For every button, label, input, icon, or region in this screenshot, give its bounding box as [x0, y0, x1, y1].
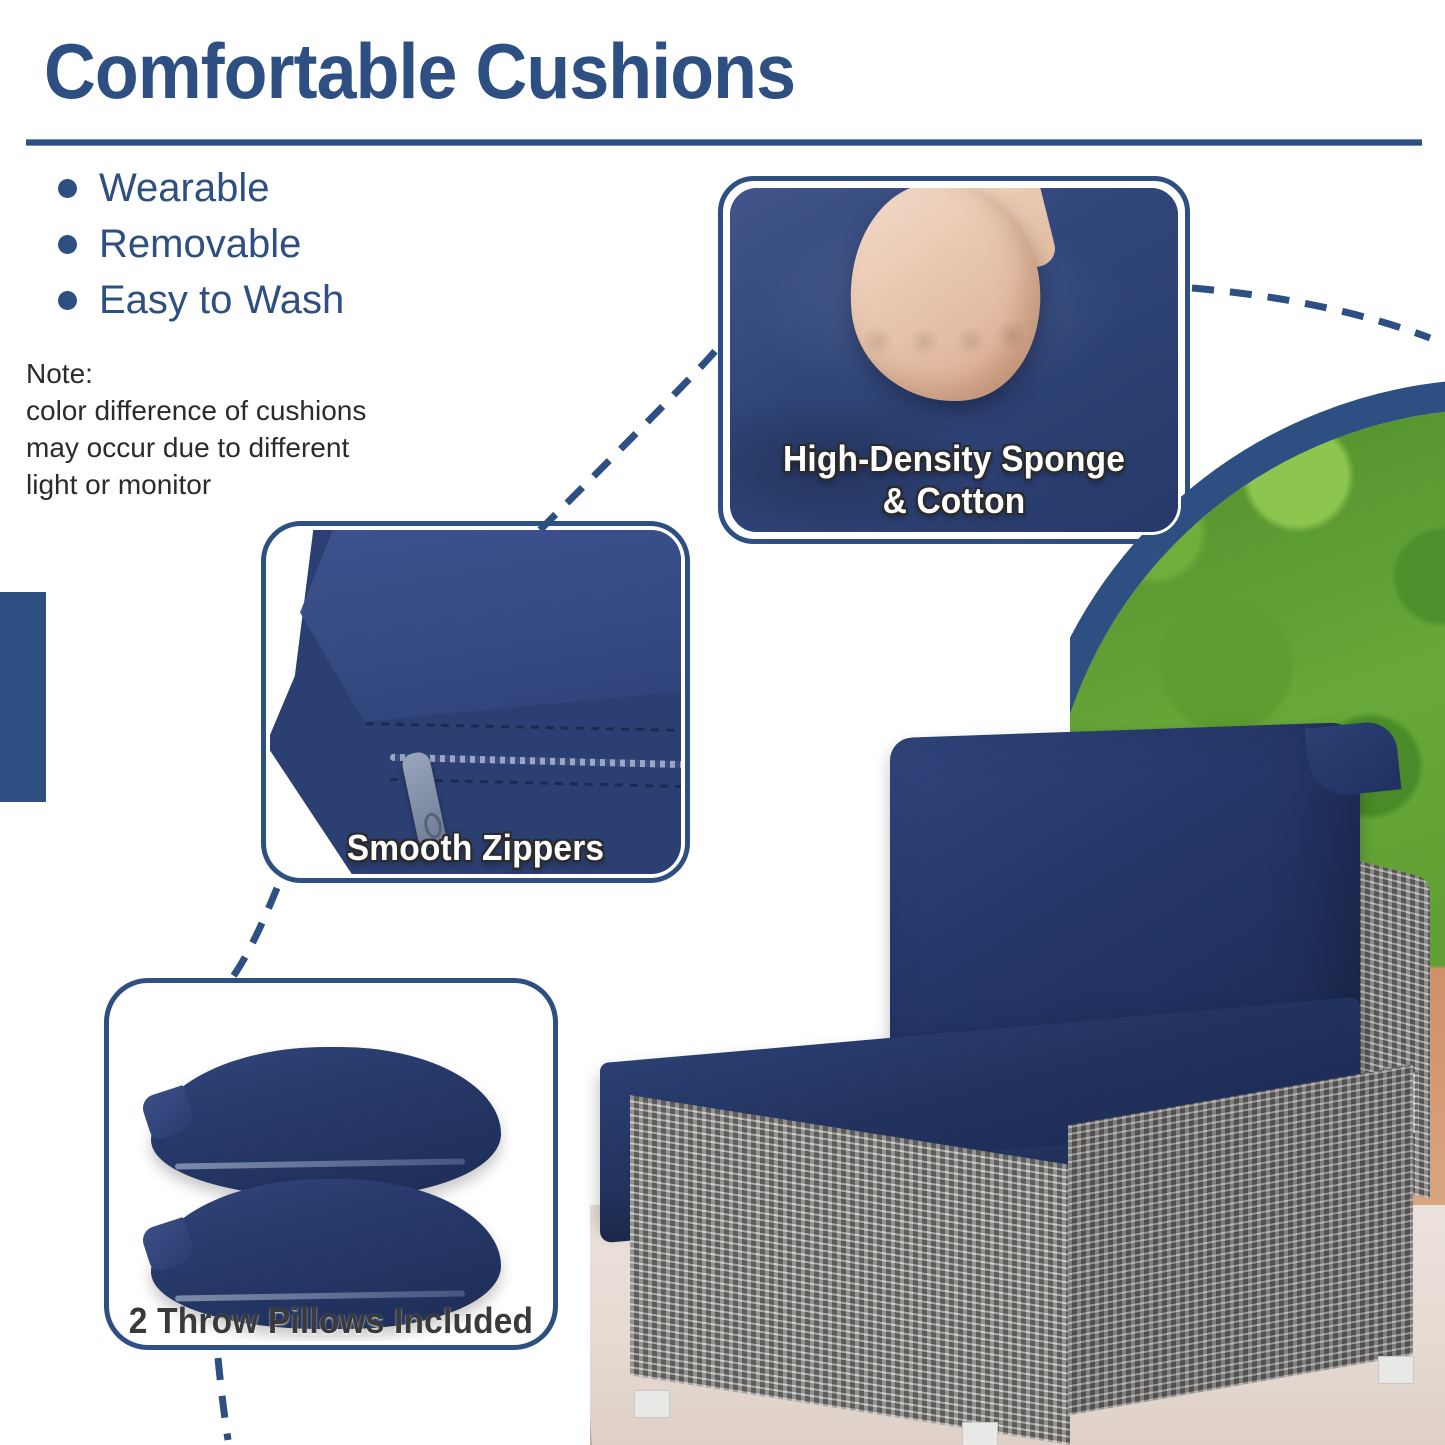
list-item: Wearable	[28, 160, 458, 216]
connector-sponge-to-arc	[1192, 288, 1430, 338]
bullet-label: Removable	[99, 221, 301, 267]
bullet-label: Wearable	[99, 165, 269, 211]
wicker-base-side	[1068, 1065, 1413, 1416]
callout-frame	[104, 978, 558, 1350]
sofa-foot	[1378, 1356, 1414, 1384]
sofa-foot	[962, 1422, 998, 1445]
bullet-dot-icon	[58, 179, 77, 198]
callout-sponge-cotton: High-Density Sponge & Cotton	[718, 176, 1190, 544]
feature-bullet-list: Wearable Removable Easy to Wash	[28, 160, 458, 328]
left-accent-tab	[0, 592, 46, 802]
bullet-dot-icon	[58, 291, 77, 310]
title-divider	[26, 139, 1422, 146]
note-line-3: light or monitor	[26, 466, 446, 503]
caption-line-1: High-Density Sponge	[735, 438, 1174, 480]
callout-smooth-zippers: Smooth Zippers	[261, 521, 690, 883]
note-heading: Note:	[26, 355, 446, 392]
callout-throw-pillows: 2 Throw Pillows Included	[104, 978, 558, 1350]
connector-pillows-down	[218, 1358, 228, 1440]
bullet-dot-icon	[58, 235, 77, 254]
note-block: Note: color difference of cushions may o…	[26, 355, 446, 503]
product-photo-sofa	[590, 700, 1445, 1445]
connector-zipper-to-pillows	[232, 888, 277, 978]
list-item: Easy to Wash	[28, 272, 458, 328]
connector-zipper-to-sponge	[540, 350, 716, 530]
sofa-foot	[634, 1390, 670, 1418]
callout-caption: 2 Throw Pillows Included	[120, 1300, 542, 1342]
caption-line-2: & Cotton	[735, 480, 1174, 522]
page-title: Comfortable Cushions	[44, 28, 795, 114]
callout-caption: Smooth Zippers	[276, 827, 675, 869]
note-line-2: may occur due to different	[26, 429, 446, 466]
note-line-1: color difference of cushions	[26, 392, 446, 429]
callout-caption: High-Density Sponge & Cotton	[735, 438, 1174, 522]
bullet-label: Easy to Wash	[99, 277, 344, 323]
infographic-canvas: Comfortable Cushions Wearable Removable …	[0, 0, 1445, 1445]
list-item: Removable	[28, 216, 458, 272]
